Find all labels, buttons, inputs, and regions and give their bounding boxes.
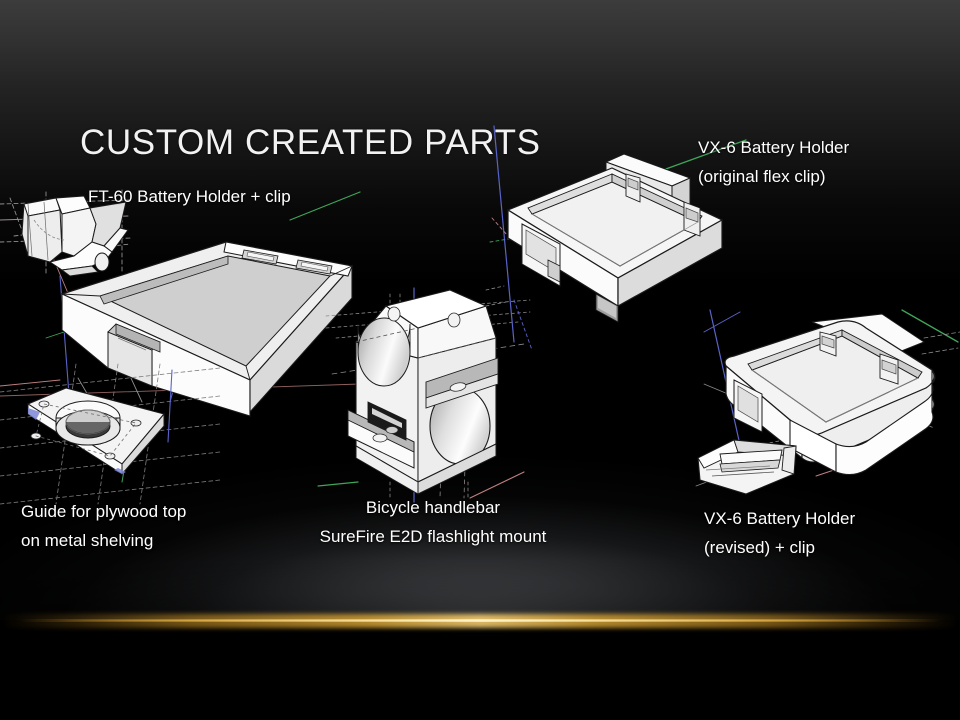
figure-plywood-guide — [0, 352, 220, 507]
caption-vx6-original-line1: VX-6 Battery Holder — [698, 133, 849, 162]
vx6-revised-clip-model — [698, 440, 796, 494]
background-floor-shade — [0, 560, 960, 622]
caption-vx6-revised-line2: (revised) + clip — [704, 533, 855, 562]
caption-flashlight-mount: Bicycle handlebar SureFire E2D flashligh… — [288, 493, 578, 551]
caption-vx6-original-line2: (original flex clip) — [698, 162, 849, 191]
background-lower-band — [0, 620, 960, 720]
caption-vx6-revised-line1: VX-6 Battery Holder — [704, 504, 855, 533]
caption-ft60-line1: FT-60 Battery Holder + clip — [88, 182, 291, 211]
caption-plywood-guide-line1: Guide for plywood top — [21, 497, 186, 526]
caption-vx6-revised: VX-6 Battery Holder (revised) + clip — [704, 504, 855, 562]
accent-divider-line — [0, 614, 960, 628]
presentation-slide: CUSTOM CREATED PARTS FT-60 Battery Holde… — [0, 0, 960, 720]
plywood-guide-model — [28, 388, 164, 474]
caption-flashlight-mount-line2: SureFire E2D flashlight mount — [288, 522, 578, 551]
caption-plywood-guide-line2: on metal shelving — [21, 526, 186, 555]
caption-ft60: FT-60 Battery Holder + clip — [88, 182, 291, 211]
figure-vx6-revised — [686, 308, 960, 502]
caption-vx6-original: VX-6 Battery Holder (original flex clip) — [698, 133, 849, 191]
page-title: CUSTOM CREATED PARTS — [80, 122, 541, 164]
flashlight-mount-model — [348, 290, 498, 494]
accent-divider-hairline — [0, 620, 960, 621]
vx6-original-model — [508, 154, 722, 322]
caption-plywood-guide: Guide for plywood top on metal shelving — [21, 497, 186, 555]
caption-flashlight-mount-line1: Bicycle handlebar — [288, 493, 578, 522]
